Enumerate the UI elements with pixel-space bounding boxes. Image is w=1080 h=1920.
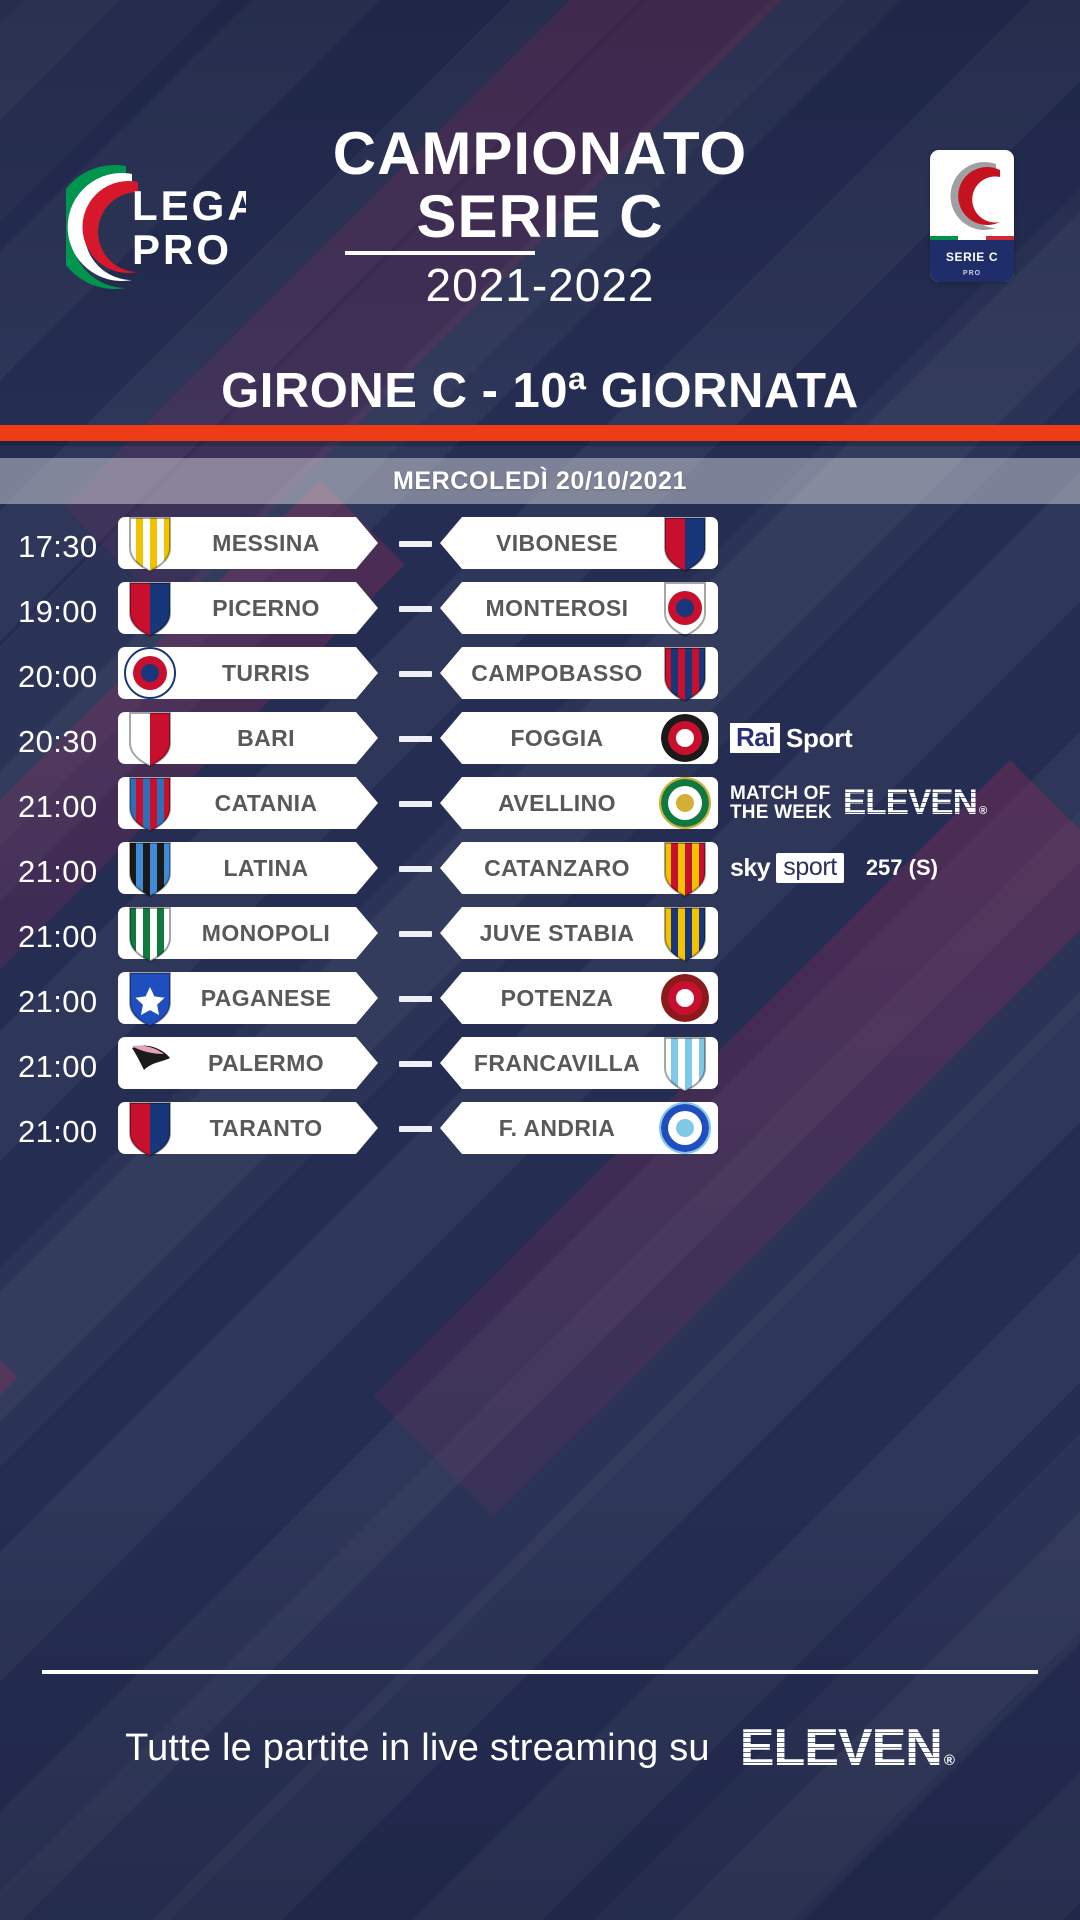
match-time: 20:00 — [18, 659, 114, 695]
eleven-logo: ELEVEN ® — [740, 1718, 955, 1778]
match-time: 21:00 — [18, 919, 114, 955]
away-team-name: MONTEROSI — [474, 582, 640, 634]
away-team-name: CAMPOBASSO — [474, 647, 640, 699]
home-team-name: MESSINA — [188, 517, 344, 569]
away-team-name: AVELLINO — [474, 777, 640, 829]
channel-number: 257 (S) — [866, 855, 938, 881]
match-row[interactable]: 21:00 TARANTO F. ANDRIA — [0, 1097, 1080, 1162]
match-time: 21:00 — [18, 1049, 114, 1085]
sky-sport-logo: sky sport — [730, 853, 844, 883]
catania-crest — [122, 772, 178, 834]
broadcast-info: sky sport 257 (S) — [730, 837, 938, 899]
avellino-crest — [657, 772, 713, 834]
accent-bar — [0, 425, 1080, 441]
eleven-logo-word: ELEVEN — [843, 783, 977, 823]
home-team-name: CATANIA — [188, 777, 344, 829]
rai-logo-word: Rai — [730, 723, 780, 753]
versus-dash-icon — [399, 1126, 432, 1132]
home-team-name: TURRIS — [188, 647, 344, 699]
rai-sport-word: Sport — [786, 723, 852, 754]
vibonese-crest — [657, 512, 713, 574]
match-of-the-week-tag: MATCH OF THE WEEK — [730, 784, 832, 823]
away-team-name: VIBONESE — [474, 517, 640, 569]
match-time: 19:00 — [18, 594, 114, 630]
home-team-name: LATINA — [188, 842, 344, 894]
away-team-name: FRANCAVILLA — [474, 1037, 640, 1089]
match-time: 21:00 — [18, 984, 114, 1020]
broadcast-info: Rai Sport — [730, 707, 852, 769]
versus-dash-icon — [399, 931, 432, 937]
footer-divider — [42, 1670, 1038, 1674]
versus-dash-icon — [399, 1061, 432, 1067]
match-row[interactable]: 20:30 BARI FOGGIA Rai Sport — [0, 707, 1080, 772]
bari-crest — [122, 707, 178, 769]
potenza-crest — [657, 967, 713, 1029]
turris-crest — [122, 642, 178, 704]
monterosi-crest — [657, 577, 713, 639]
page-title-line2: SERIE C — [0, 186, 1080, 247]
latina-crest — [122, 837, 178, 899]
rai-sport-logo: Rai Sport — [730, 721, 852, 755]
paganese-crest — [122, 967, 178, 1029]
season-label: 2021-2022 — [0, 258, 1080, 312]
sky-logo-word: sky — [730, 854, 770, 883]
catanzaro-crest — [657, 837, 713, 899]
trademark-icon: ® — [944, 1752, 955, 1769]
home-team-name: TARANTO — [188, 1102, 344, 1154]
home-team-name: PICERNO — [188, 582, 344, 634]
match-row[interactable]: 21:00 CATANIA AVELLINO — [0, 772, 1080, 837]
versus-dash-icon — [399, 866, 432, 872]
sky-sport-word: sport — [776, 853, 844, 883]
versus-dash-icon — [399, 606, 432, 612]
title-divider — [345, 251, 535, 255]
match-row[interactable]: 20:00 TURRIS CAMPOBASSO — [0, 642, 1080, 707]
away-team-name: F. ANDRIA — [474, 1102, 640, 1154]
date-header-bar: MERCOLEDÌ 20/10/2021 — [0, 458, 1080, 504]
accent-bar-shadow — [0, 441, 1080, 446]
header: LEGA PRO SERIE C PRO CAMPIONATO SERIE C … — [0, 0, 1080, 520]
match-row[interactable]: 21:00 PALERMO FRANCAVILLA — [0, 1032, 1080, 1097]
away-team-name: JUVE STABIA — [474, 907, 640, 959]
broadcast-info: MATCH OF THE WEEK ELEVEN ® — [730, 772, 987, 834]
messina-crest — [122, 512, 178, 574]
campobasso-crest — [657, 642, 713, 704]
eleven-logo: ELEVEN ® — [843, 783, 987, 823]
eleven-logo-word: ELEVEN — [740, 1718, 942, 1778]
match-time: 21:00 — [18, 854, 114, 890]
match-list: 17:30 MESSINA VIBONESE 19: — [0, 512, 1080, 1162]
match-time: 20:30 — [18, 724, 114, 760]
trademark-icon: ® — [979, 805, 987, 817]
away-team-name: CATANZARO — [474, 842, 640, 894]
away-team-name: FOGGIA — [474, 712, 640, 764]
versus-dash-icon — [399, 996, 432, 1002]
away-team-name: POTENZA — [474, 972, 640, 1024]
foggia-crest — [657, 707, 713, 769]
match-row[interactable]: 17:30 MESSINA VIBONESE — [0, 512, 1080, 577]
versus-dash-icon — [399, 671, 432, 677]
versus-dash-icon — [399, 801, 432, 807]
versus-dash-icon — [399, 736, 432, 742]
home-team-name: PAGANESE — [188, 972, 344, 1024]
palermo-crest — [122, 1032, 178, 1094]
versus-dash-icon — [399, 541, 432, 547]
match-time: 21:00 — [18, 1114, 114, 1150]
match-row[interactable]: 19:00 PICERNO MONTEROSI — [0, 577, 1080, 642]
francavilla-crest — [657, 1032, 713, 1094]
match-row[interactable]: 21:00 PAGANESE POTENZA — [0, 967, 1080, 1032]
match-time: 21:00 — [18, 789, 114, 825]
date-header-label: MERCOLEDÌ 20/10/2021 — [393, 467, 687, 496]
match-time: 17:30 — [18, 529, 114, 565]
home-team-name: PALERMO — [188, 1037, 344, 1089]
fidelis-andria-crest — [657, 1097, 713, 1159]
footer-text: Tutte le partite in live streaming su — [125, 1727, 710, 1770]
home-team-name: MONOPOLI — [188, 907, 344, 959]
juve-stabia-crest — [657, 902, 713, 964]
page-title-line1: CAMPIONATO — [0, 123, 1080, 184]
home-team-name: BARI — [188, 712, 344, 764]
picerno-crest — [122, 577, 178, 639]
taranto-crest — [122, 1097, 178, 1159]
match-row[interactable]: 21:00 MONOPOLI JUVE STABIA — [0, 902, 1080, 967]
monopoli-crest — [122, 902, 178, 964]
match-row[interactable]: 21:00 LATINA CATANZARO — [0, 837, 1080, 902]
round-title: GIRONE C - 10ª GIORNATA — [0, 363, 1080, 419]
